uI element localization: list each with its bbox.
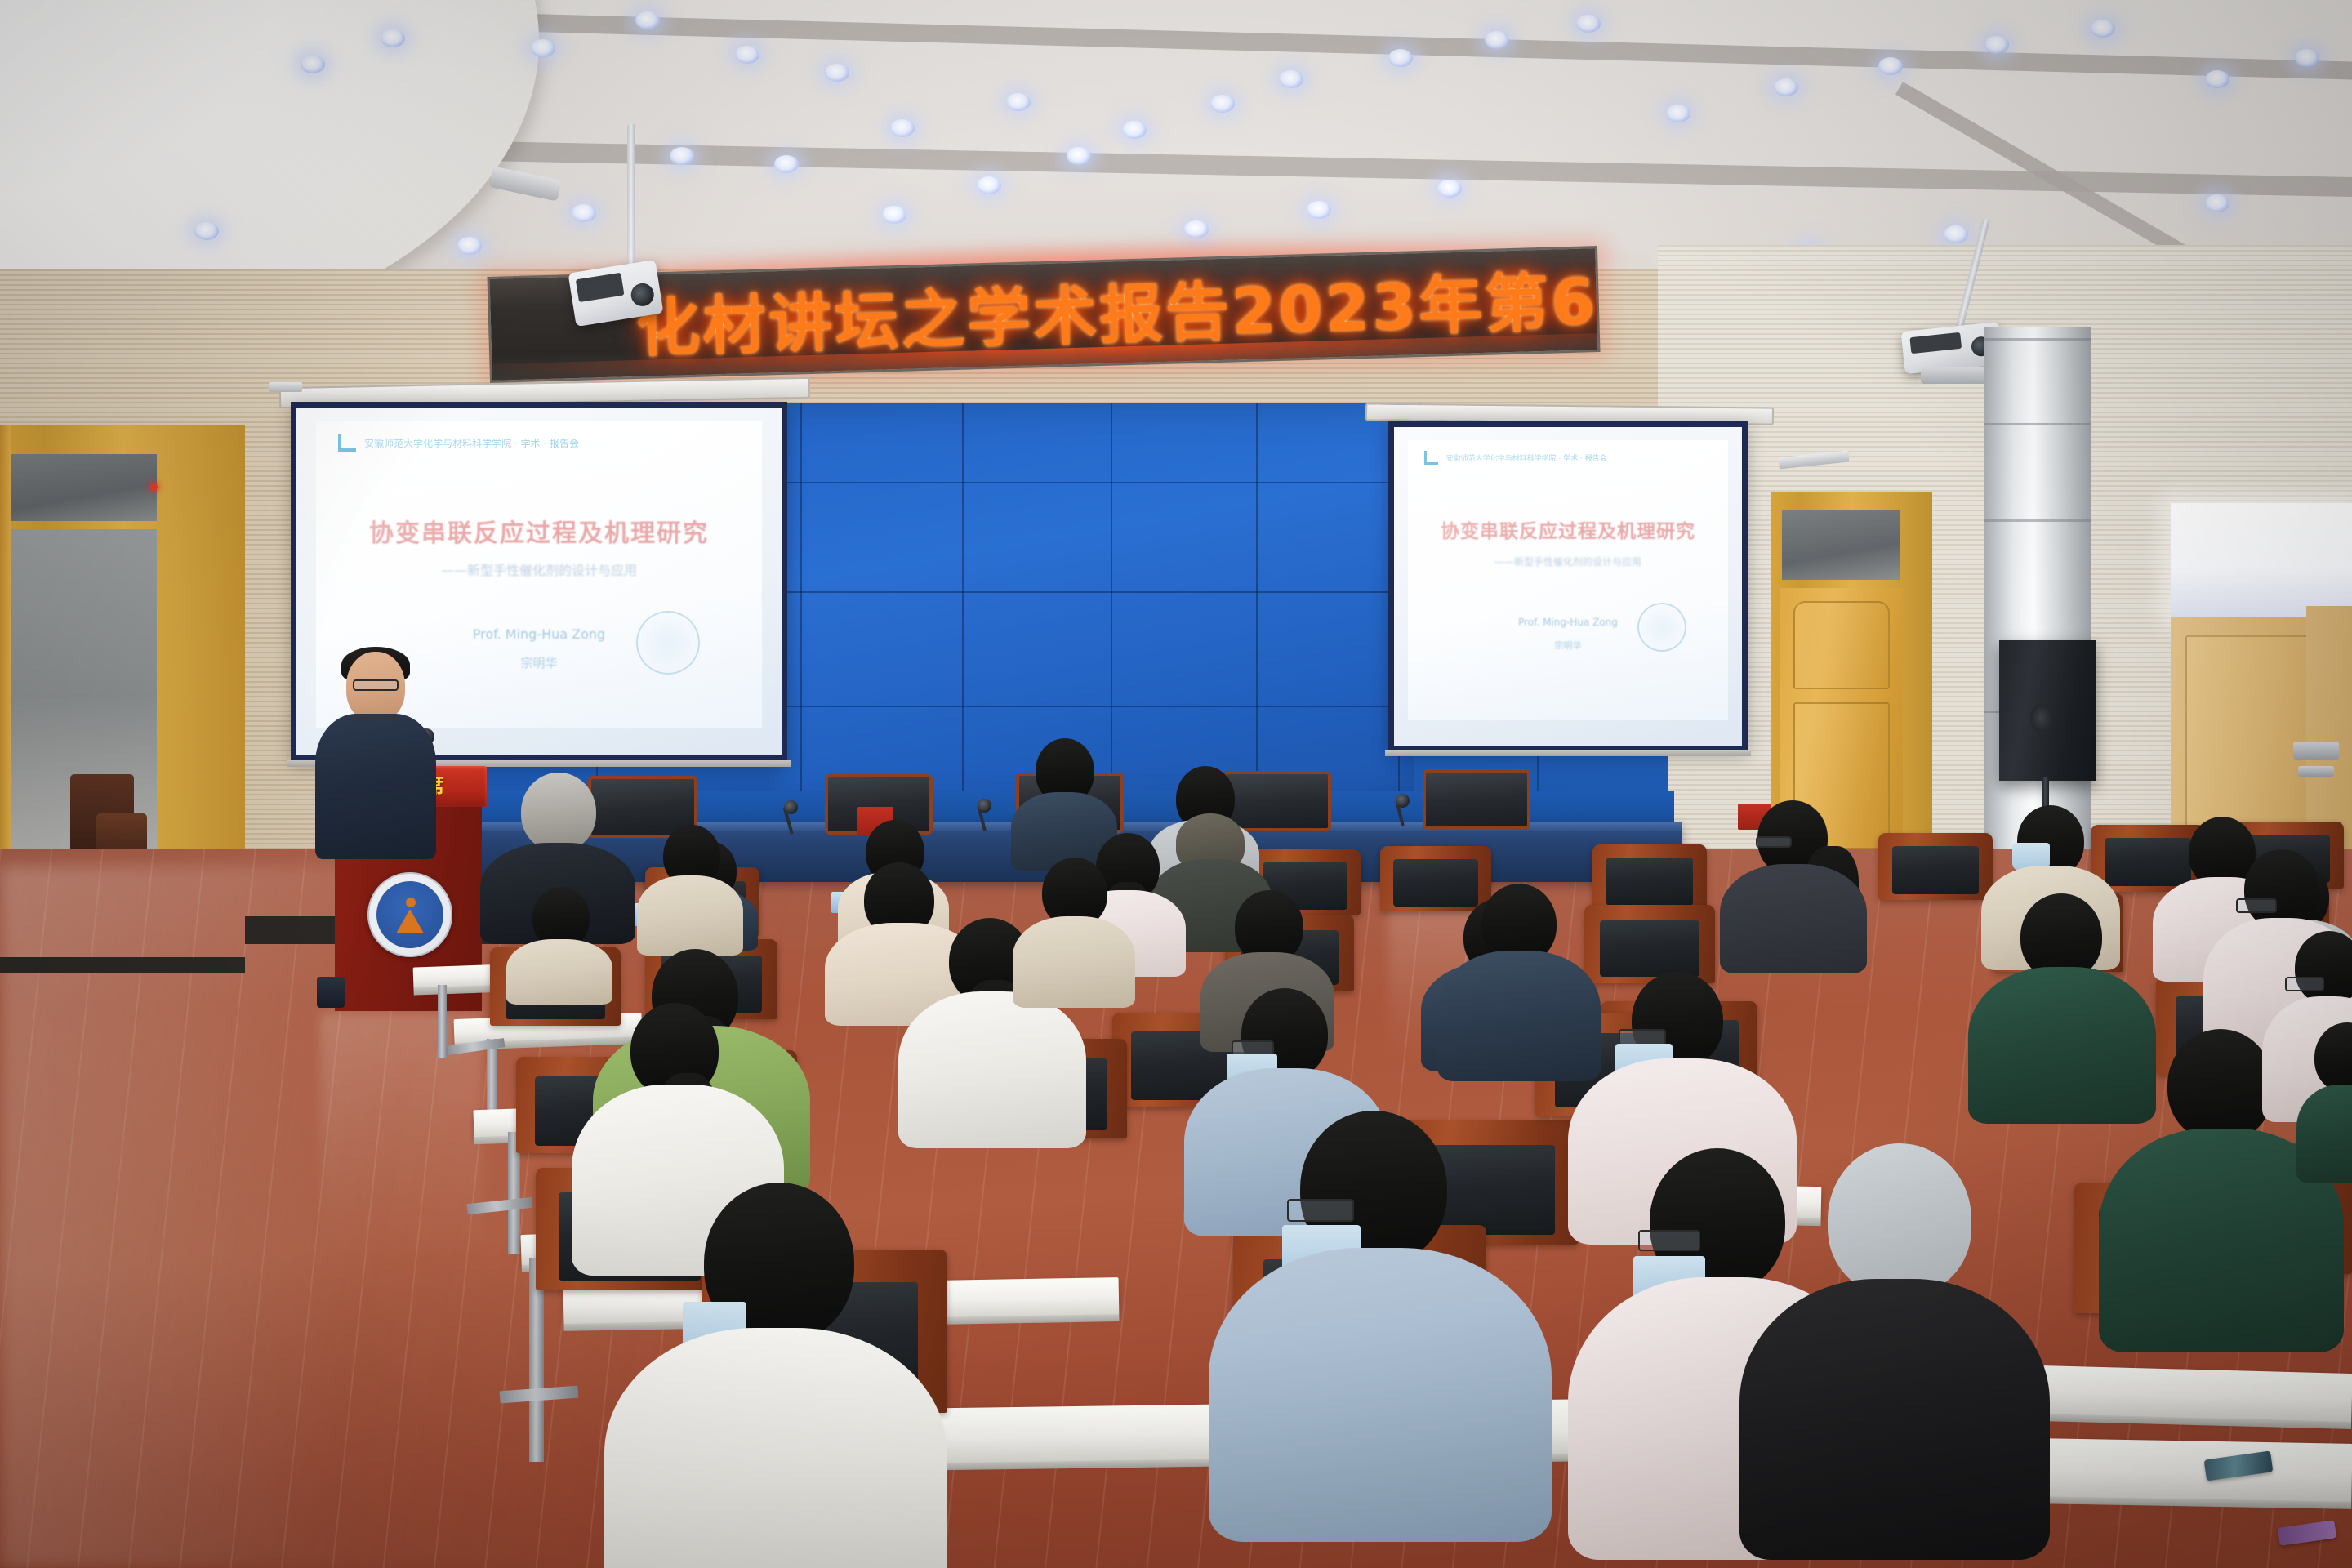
right-slide-header: 安徽师范大学化学与材料科学学院 · 学术 · 报告会 <box>1424 451 1713 465</box>
ceiling-downlight <box>1944 225 1968 243</box>
audience-member-front-left <box>604 1183 947 1568</box>
presenter-glasses-icon <box>353 679 399 691</box>
torso <box>1720 864 1867 973</box>
left-slide-header: 安徽师范大学化学与材料科学学院 · 学术 · 报告会 <box>338 434 740 452</box>
right-slide-title: 协变串联反应过程及机理研究 <box>1408 515 1728 543</box>
glasses-icon <box>2236 898 2277 913</box>
audience-member-front-far-right <box>1739 1143 2050 1552</box>
ceiling-downlight <box>381 29 405 47</box>
glasses-icon <box>1638 1230 1700 1251</box>
head <box>2314 1022 2352 1093</box>
ceiling-downlight <box>301 56 325 73</box>
ceiling-downlight <box>457 237 482 255</box>
ceiling-downlight <box>194 222 219 240</box>
slide-university-seal <box>636 611 700 675</box>
right-slide-org: 安徽师范大学化学与材料科学学院 · 学术 · 报告会 <box>1446 452 1607 463</box>
speaker-cone-icon <box>2030 704 2051 732</box>
glasses-icon <box>2285 977 2324 991</box>
slide-corner-mark-icon <box>1424 451 1438 465</box>
head <box>2167 1029 2274 1142</box>
ceiling-downlight <box>825 64 849 82</box>
ceiling-downlight <box>531 39 555 57</box>
torso <box>2296 1085 2352 1183</box>
left-projector-pole <box>627 124 635 273</box>
torso <box>1739 1279 2050 1560</box>
audience-chair[interactable] <box>1592 844 1707 911</box>
audience-member <box>1013 857 1135 1004</box>
audience-member-front-center <box>1209 1111 1552 1535</box>
ceiling-downlight <box>1184 220 1209 238</box>
slide-university-seal <box>1637 603 1686 652</box>
ceiling-downlight <box>1984 36 2009 54</box>
table-microphone-head <box>1396 794 1410 808</box>
head <box>521 773 596 851</box>
ceiling-downlight <box>2205 194 2229 212</box>
right-slide: 安徽师范大学化学与材料科学学院 · 学术 · 报告会 协变串联反应过程及机理研究… <box>1408 440 1728 720</box>
emblem-inner-disc <box>376 881 443 948</box>
ceiling-downlight <box>977 176 1001 194</box>
presenter-body <box>315 714 436 859</box>
double-door-handle[interactable] <box>2293 742 2339 759</box>
head <box>2295 931 2352 1004</box>
desk-leg <box>438 985 447 1058</box>
university-emblem <box>367 872 452 957</box>
right-projection-screen: 安徽师范大学化学与材料科学学院 · 学术 · 报告会 协变串联反应过程及机理研究… <box>1388 421 1748 751</box>
audience-member <box>1720 800 1867 972</box>
right-door-panel-upper <box>1793 601 1890 689</box>
left-projector-top-vent <box>576 273 625 302</box>
glasses-icon <box>1619 1029 1666 1045</box>
left-screen-bracket <box>269 382 302 392</box>
head-with-hood <box>1828 1143 1971 1295</box>
ceiling-downlight <box>670 147 694 165</box>
ceiling-downlight <box>1878 57 1903 75</box>
torso <box>1013 916 1135 1008</box>
audience-member <box>637 825 743 955</box>
head-table-chair[interactable] <box>1423 769 1530 830</box>
ceiling-downlight <box>1576 15 1601 33</box>
ceiling-downlight <box>1006 93 1031 111</box>
pa-loudspeaker <box>1999 640 2096 781</box>
torso <box>604 1328 947 1568</box>
emblem-glyph-icon <box>396 898 424 935</box>
wall-baseboard <box>0 957 245 973</box>
ceiling-downlight <box>2295 49 2319 67</box>
ceiling-downlight <box>882 206 906 224</box>
left-slide-org: 安徽师范大学化学与材料科学学院 · 学术 · 报告会 <box>364 436 579 450</box>
door-indicator-light-icon <box>150 483 158 491</box>
right-screen-bottom-bar <box>1385 750 1751 756</box>
ceiling-downlight <box>1774 78 1798 96</box>
ceiling-beam-strip <box>310 8 2352 80</box>
glasses-icon <box>1756 836 1792 848</box>
slide-corner-mark-icon <box>338 434 356 452</box>
ceiling-downlight <box>635 11 660 29</box>
audience-member <box>2296 1022 2352 1178</box>
presenter <box>310 652 441 856</box>
ceiling-downlight <box>1210 95 1235 113</box>
ceiling-downlight <box>774 155 799 173</box>
ceiling-downlight <box>1122 121 1147 139</box>
torso <box>637 875 743 955</box>
ceiling-downlight <box>2091 20 2115 38</box>
torso <box>898 991 1086 1148</box>
ceiling-downlight <box>890 119 915 137</box>
torso <box>1209 1248 1552 1542</box>
ceiling-downlight <box>2205 70 2229 88</box>
right-slide-subtitle: ——新型手性催化剂的设计与应用 <box>1408 555 1728 568</box>
double-door-latch[interactable] <box>2298 766 2334 777</box>
ceiling-downlight <box>1437 180 1462 198</box>
right-projector-top-vent <box>1909 332 1962 354</box>
left-door-transom-glass <box>10 454 157 521</box>
table-microphone-head <box>784 800 798 814</box>
ceiling-downlight <box>1279 70 1303 88</box>
double-door-transom-window <box>2171 503 2352 619</box>
ceiling-downlight <box>735 46 759 64</box>
lecture-hall-photo: 化材讲坛之学术报告2023年第6讲 安徽师范大学化学与材料科学学院 · 学术 ·… <box>0 0 2352 1568</box>
right-door-transom-glass <box>1782 510 1900 580</box>
glasses-icon <box>1287 1199 1354 1222</box>
ceiling-downlight <box>1067 147 1091 165</box>
ceiling-downlight <box>1307 201 1331 219</box>
audience-chair[interactable] <box>1878 833 1993 900</box>
ceiling-downlight <box>1666 105 1690 122</box>
left-slide-subtitle: ——新型手性催化剂的设计与应用 <box>316 559 762 579</box>
ceiling-downlight <box>1388 49 1413 67</box>
table-microphone-head <box>978 799 991 813</box>
left-slide-title: 协变串联反应过程及机理研究 <box>316 513 762 549</box>
ceiling-downlight <box>572 204 596 222</box>
ceiling-downlight <box>1485 31 1509 49</box>
left-projector-lens-icon <box>630 282 656 308</box>
presenter-shoe <box>317 977 345 1008</box>
